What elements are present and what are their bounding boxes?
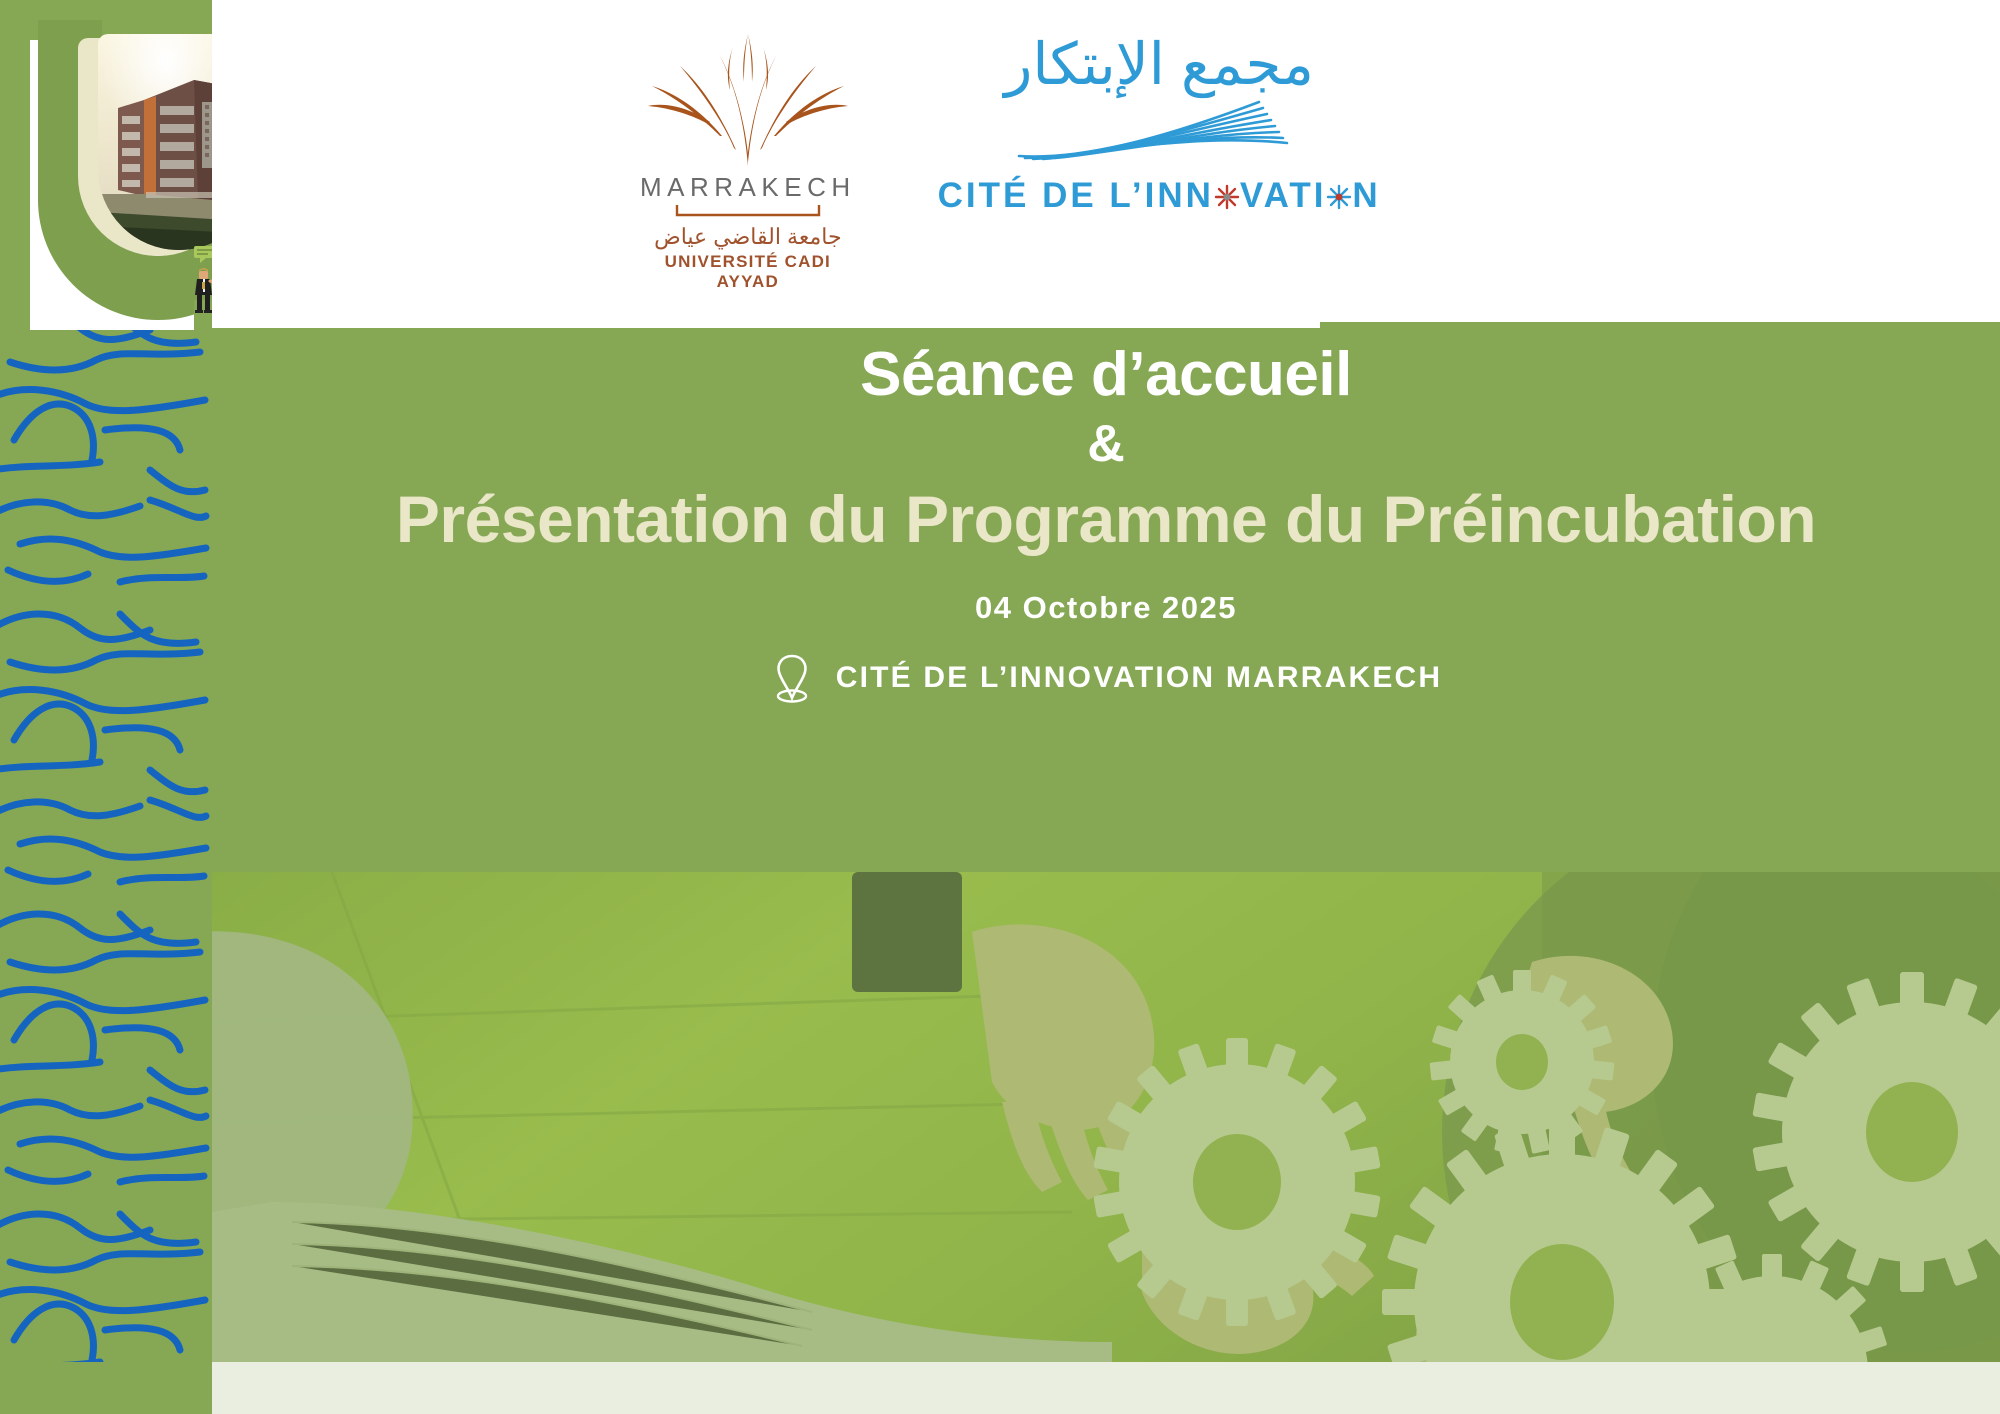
logo-cite-name-part3: N xyxy=(1352,176,1380,215)
logo-uca-arabic: جامعة القاضي عياض xyxy=(640,224,856,250)
logo-uca-name: MARRAKECH xyxy=(640,172,856,203)
logo-universite-cadi-ayyad: MARRAKECH جامعة القاضي عياض UNIVERSITÉ C… xyxy=(640,26,856,292)
bottom-cream-strip xyxy=(212,1362,2000,1414)
bottom-photo xyxy=(212,872,2000,1362)
photo-green-tint-overlay xyxy=(212,872,2000,1362)
title-band-notch xyxy=(1320,322,2000,330)
slide-title-line1: Séance d’accueil xyxy=(212,340,2000,409)
logo-cite-name-part1: CITÉ DE L’INN xyxy=(938,176,1214,215)
slide-canvas: MARRAKECH جامعة القاضي عياض UNIVERSITÉ C… xyxy=(0,0,2000,1414)
logo-cite-innovation: مجمع الإبتكار CITÉ DE L’INNVATIN xyxy=(938,26,1381,216)
map-pin-icon xyxy=(770,650,814,706)
bottom-left-green-strip xyxy=(0,1362,212,1414)
logo-cite-name: CITÉ DE L’INNVATIN xyxy=(938,176,1381,216)
logo-cite-arabic: مجمع الإبتكار xyxy=(938,36,1381,94)
palm-fan-icon xyxy=(648,26,848,166)
starburst-icon xyxy=(1214,179,1240,205)
brace-underline-icon xyxy=(673,205,823,219)
wave-swoosh-icon xyxy=(1009,96,1309,168)
event-date: 04 Octobre 2025 xyxy=(212,590,2000,626)
logo-group: MARRAKECH جامعة القاضي عياض UNIVERSITÉ C… xyxy=(640,26,1340,276)
starburst-icon-2 xyxy=(1326,179,1352,205)
logo-uca-french: UNIVERSITÉ CADI AYYAD xyxy=(640,252,856,292)
event-location-text: CITÉ DE L’INNOVATION MARRAKECH xyxy=(836,661,1443,695)
logo-cite-name-part2: VATI xyxy=(1240,176,1327,215)
slide-title-ampersand: & xyxy=(212,413,2000,475)
event-location: CITÉ DE L’INNOVATION MARRAKECH xyxy=(212,650,2000,706)
slide-title-line3: Présentation du Programme du Préincubati… xyxy=(212,482,2000,557)
title-block: Séance d’accueil & Présentation du Progr… xyxy=(212,340,2000,706)
